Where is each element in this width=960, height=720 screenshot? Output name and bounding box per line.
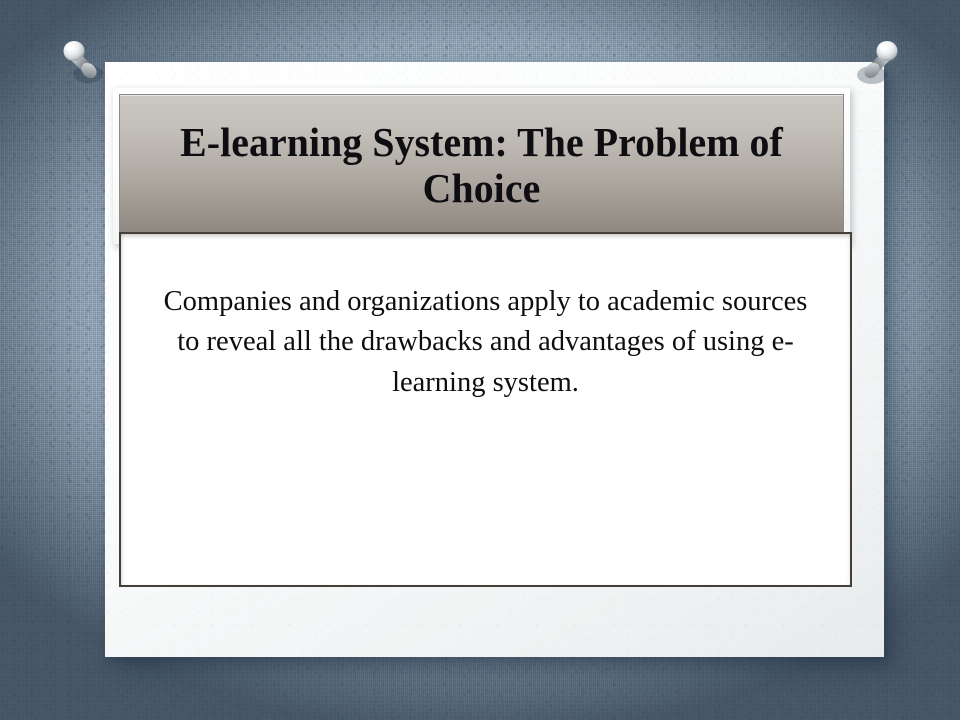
slide-body-text: Companies and organizations apply to aca… bbox=[121, 234, 850, 403]
push-pin-left-icon bbox=[58, 34, 114, 90]
slide-title: E-learning System: The Problem of Choice bbox=[131, 120, 832, 212]
title-plate: E-learning System: The Problem of Choice bbox=[119, 94, 844, 238]
title-plate-frame: E-learning System: The Problem of Choice bbox=[113, 88, 850, 244]
paper-card: E-learning System: The Problem of Choice… bbox=[105, 62, 884, 657]
content-box: Companies and organizations apply to aca… bbox=[119, 232, 852, 587]
push-pin-right-icon bbox=[848, 34, 904, 90]
presentation-slide: E-learning System: The Problem of Choice… bbox=[0, 0, 960, 720]
